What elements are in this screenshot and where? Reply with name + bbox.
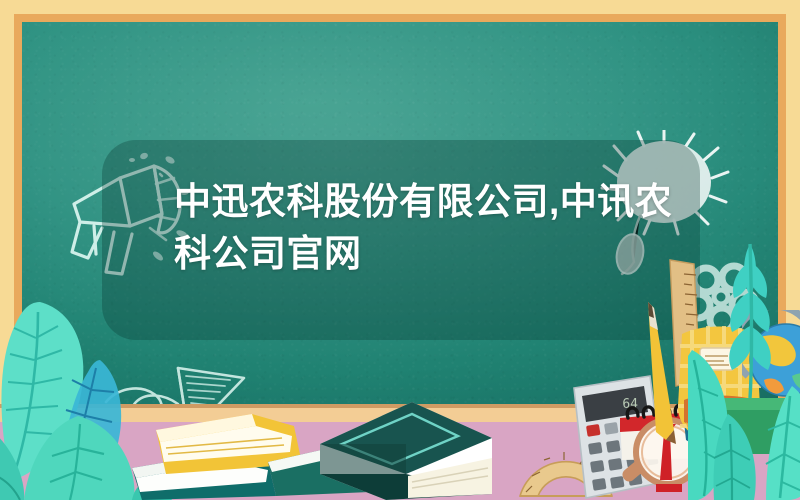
banner-image: 中迅农科股份有限公司,中讯农科公司官网 — [0, 0, 800, 500]
desk-surface-pink — [0, 422, 800, 500]
page-title: 中迅农科股份有限公司,中讯农科公司官网 — [174, 176, 694, 280]
